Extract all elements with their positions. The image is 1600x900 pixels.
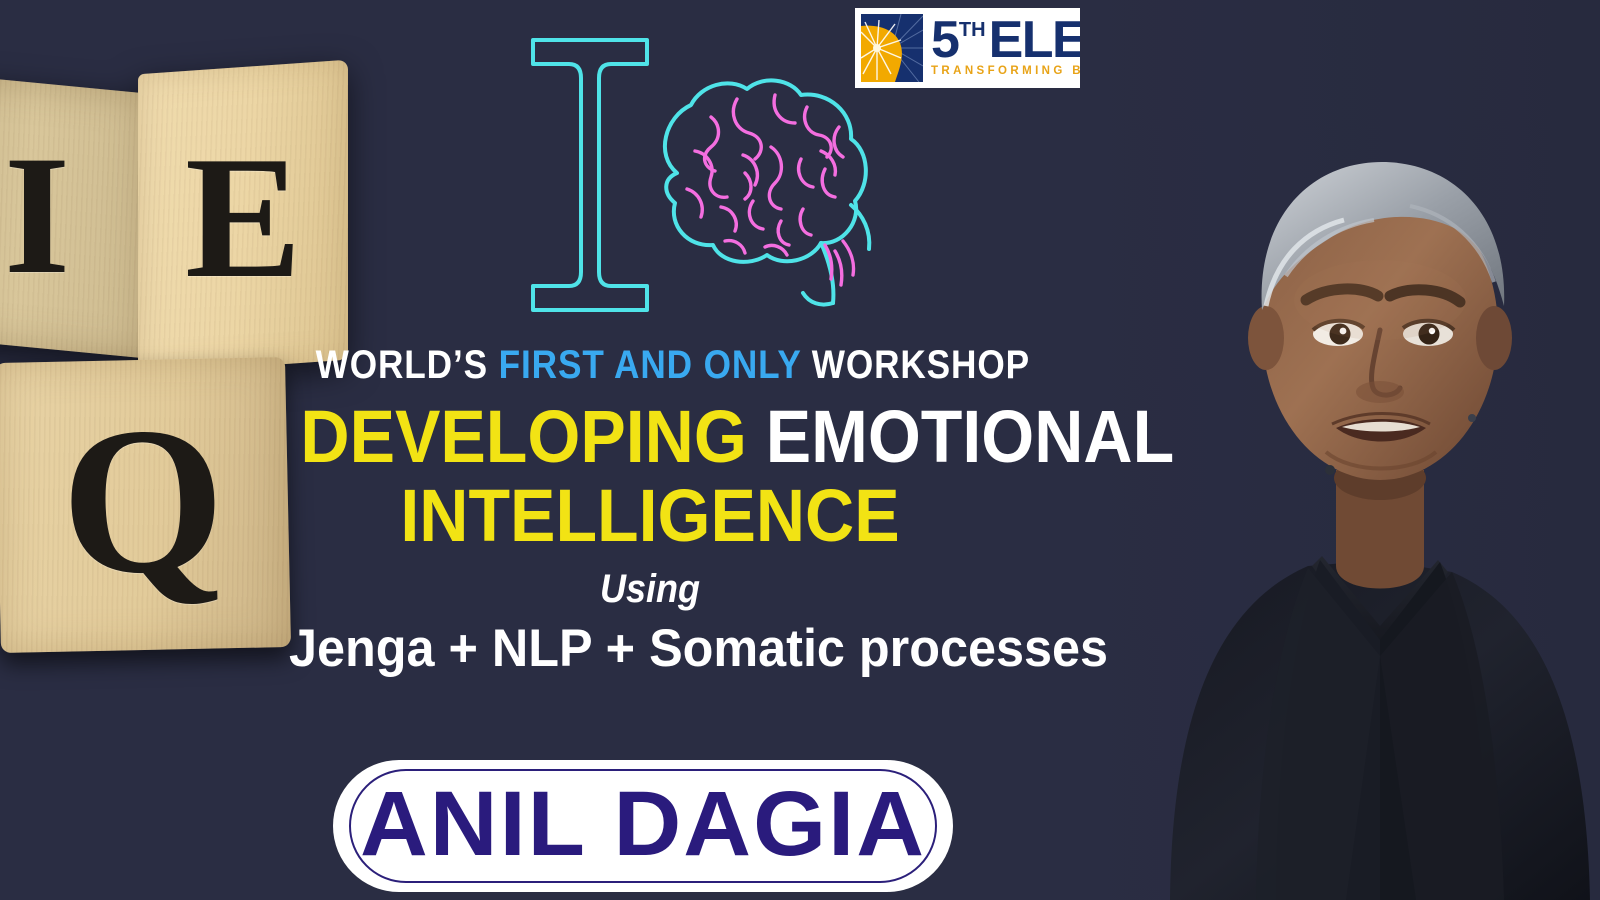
cube-letter-i: I <box>4 118 70 313</box>
title-intelligence: INTELLIGENCE <box>400 474 899 557</box>
iq-graphic <box>505 25 895 325</box>
title-line-2: INTELLIGENCE <box>300 480 999 551</box>
cube-face-i: I <box>0 73 145 359</box>
presenter-name: ANIL DAGIA <box>327 758 959 890</box>
logo-ordinal: TH <box>959 22 986 38</box>
title-line-1: DEVELOPING EMOTIONAL <box>300 401 999 472</box>
cube-letter-e: E <box>185 117 302 318</box>
cube-face-q: Q <box>0 357 291 653</box>
letter-cube-top: I E <box>0 55 355 365</box>
using-label: Using <box>308 567 992 612</box>
copy-block: WORLD’S FIRST AND ONLY WORKSHOP DEVELOPI… <box>270 345 1030 679</box>
brain-icon <box>625 55 890 320</box>
cube-letter-q: Q <box>59 394 227 607</box>
presenter-name-badge: ANIL DAGIA <box>333 760 953 892</box>
title-emotional: EMOTIONAL <box>747 395 1174 478</box>
methods-text: Jenga + NLP + Somatic processes <box>289 618 1011 679</box>
poster-canvas: I E Q <box>0 0 1600 900</box>
eyebrow-pre: WORLD’S <box>316 343 499 387</box>
head-starburst-icon <box>861 14 923 82</box>
eyebrow-text: WORLD’S FIRST AND ONLY WORKSHOP <box>316 345 985 385</box>
cube-face-e: E <box>138 60 348 375</box>
letter-cube-bottom: Q <box>0 357 291 653</box>
title-developing: DEVELOPING <box>300 395 746 478</box>
page-title: DEVELOPING EMOTIONAL INTELLIGENCE <box>270 401 1030 551</box>
eyebrow-post: WORKSHOP <box>801 343 1030 387</box>
logo-number: 5 <box>931 19 959 62</box>
eyebrow-highlight: FIRST AND ONLY <box>499 343 801 387</box>
